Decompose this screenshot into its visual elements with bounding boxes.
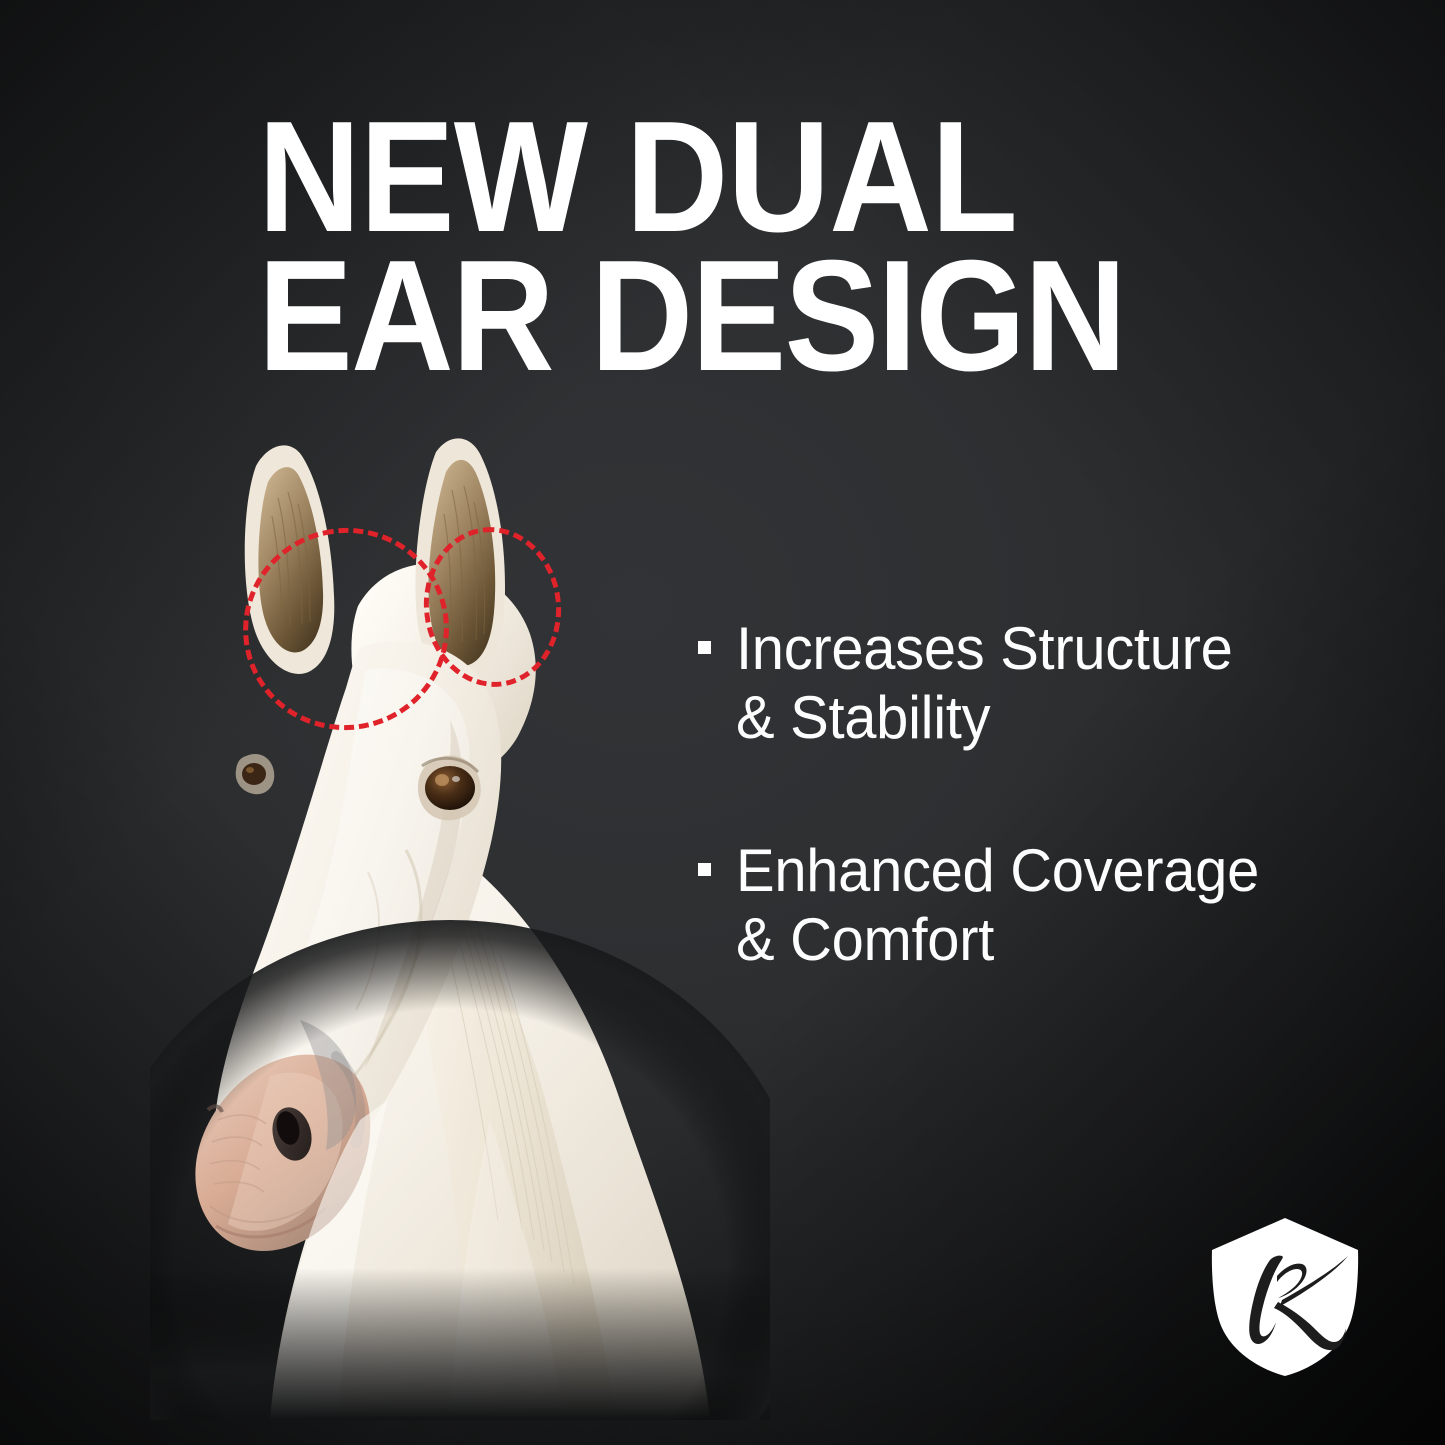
list-item: Increases Structure & Stability	[698, 614, 1358, 752]
feature-text: Increases Structure & Stability	[736, 614, 1233, 752]
feature-list: Increases Structure & Stability Enhanced…	[698, 614, 1358, 1058]
square-bullet-icon	[698, 863, 711, 876]
headline-line-2: EAR DESIGN	[258, 247, 1122, 386]
square-bullet-icon	[698, 641, 711, 654]
headline-line-1: NEW DUAL	[258, 108, 1122, 247]
page-title: NEW DUAL EAR DESIGN	[258, 108, 1122, 386]
promo-graphic: NEW DUAL EAR DESIGN Increases Structure …	[0, 0, 1445, 1445]
list-item: Enhanced Coverage & Comfort	[698, 836, 1358, 974]
feature-text: Enhanced Coverage & Comfort	[736, 836, 1259, 974]
brand-logo	[1208, 1216, 1362, 1378]
